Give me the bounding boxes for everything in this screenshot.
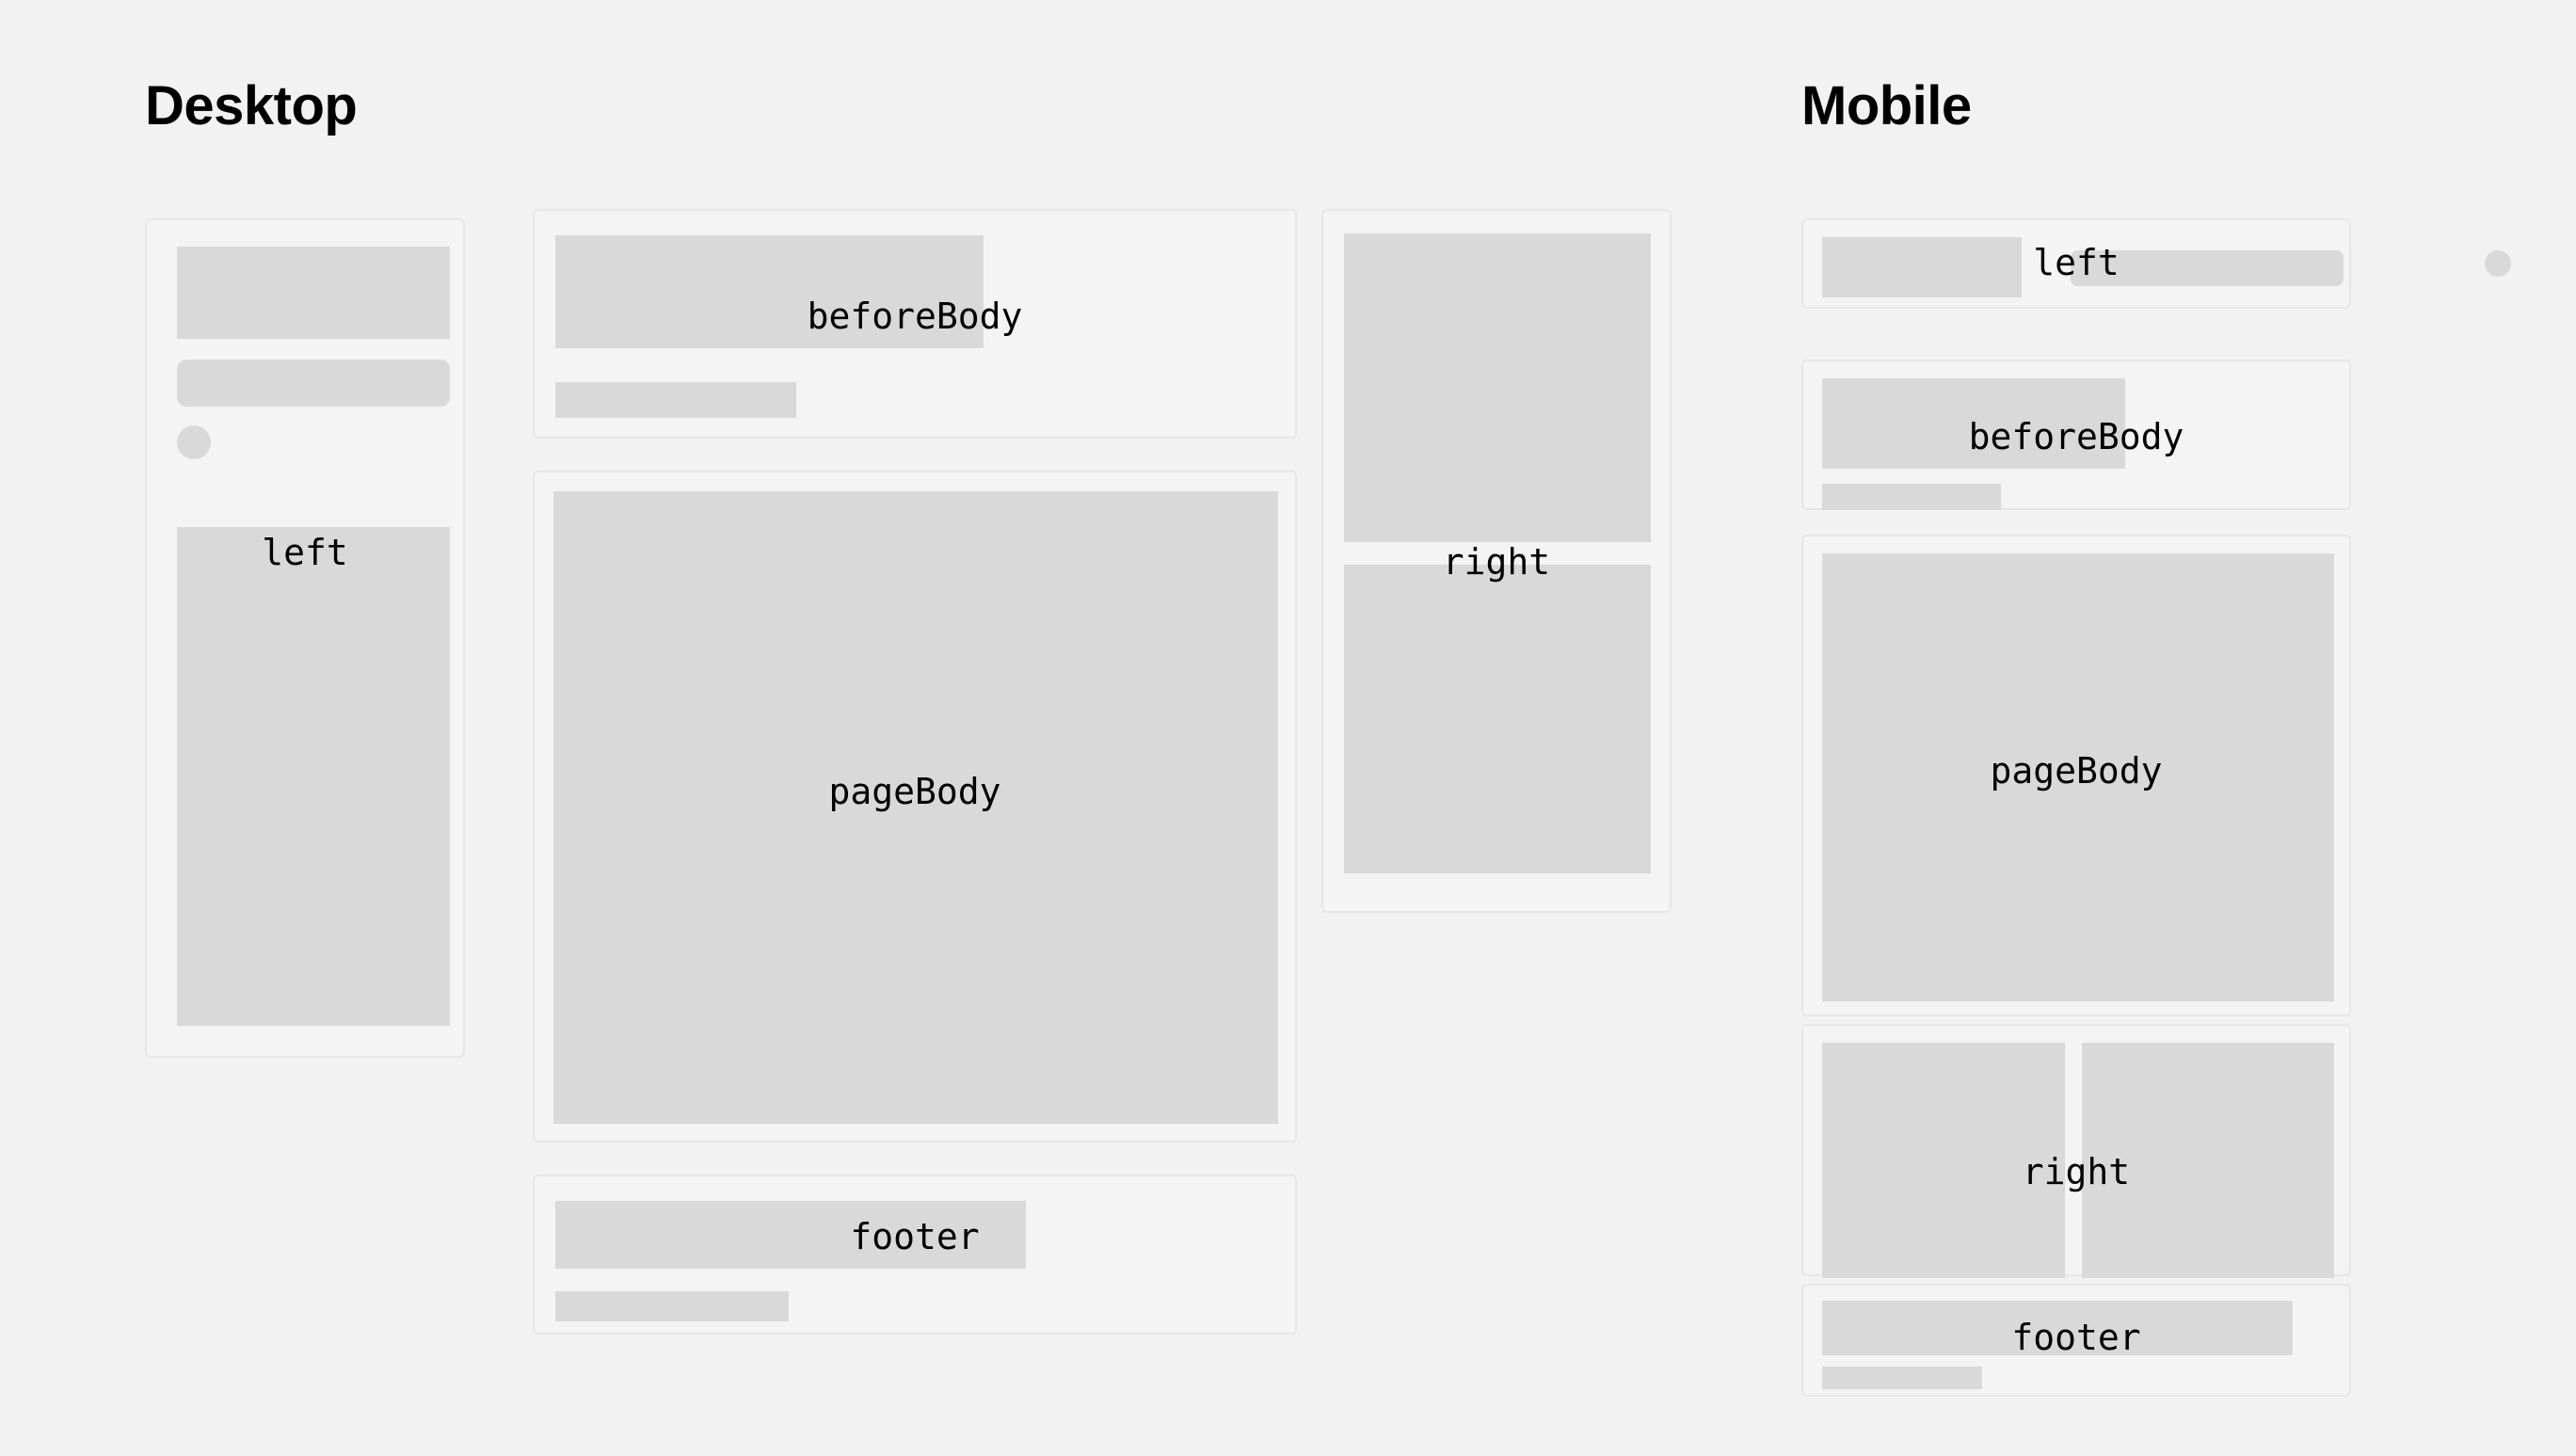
desktop-beforebody-region-card[interactable]	[533, 209, 1297, 439]
placeholder-bar	[2071, 250, 2344, 286]
placeholder-avatar-circle	[177, 425, 211, 459]
mobile-footer-region-card[interactable]	[1801, 1284, 2351, 1397]
mobile-right-region-card[interactable]	[1801, 1024, 2351, 1276]
desktop-pagebody-region-card[interactable]	[533, 471, 1297, 1143]
placeholder-block	[555, 235, 984, 348]
mobile-left-region-card[interactable]	[1801, 218, 2351, 309]
desktop-section-title: Desktop	[145, 79, 357, 134]
placeholder-block	[1344, 233, 1651, 542]
layout-preview-stage: Desktop left beforeBody pageBody footer …	[0, 0, 2576, 1456]
desktop-right-region-card[interactable]	[1321, 209, 1672, 913]
placeholder-block	[555, 1201, 1026, 1269]
placeholder-block	[177, 247, 450, 339]
desktop-footer-region-card[interactable]	[533, 1175, 1297, 1335]
placeholder-block	[1822, 237, 2022, 297]
placeholder-block	[1822, 1301, 2293, 1355]
placeholder-bar	[555, 382, 796, 418]
desktop-left-region-card[interactable]	[145, 218, 465, 1058]
placeholder-bar	[177, 360, 450, 407]
placeholder-block-large	[1822, 553, 2334, 1001]
placeholder-bar	[1822, 1367, 1982, 1389]
placeholder-avatar-circle	[2485, 250, 2511, 277]
placeholder-block-tall	[177, 527, 450, 1026]
placeholder-block	[2082, 1043, 2334, 1278]
placeholder-bar	[555, 1291, 789, 1321]
mobile-pagebody-region-card[interactable]	[1801, 535, 2351, 1016]
placeholder-bar	[1822, 484, 2001, 510]
mobile-section-title: Mobile	[1801, 79, 1972, 134]
placeholder-block	[1344, 565, 1651, 873]
placeholder-block-large	[553, 491, 1278, 1124]
mobile-beforebody-region-card[interactable]	[1801, 360, 2351, 510]
placeholder-block	[1822, 378, 2125, 469]
placeholder-block	[1822, 1043, 2065, 1278]
